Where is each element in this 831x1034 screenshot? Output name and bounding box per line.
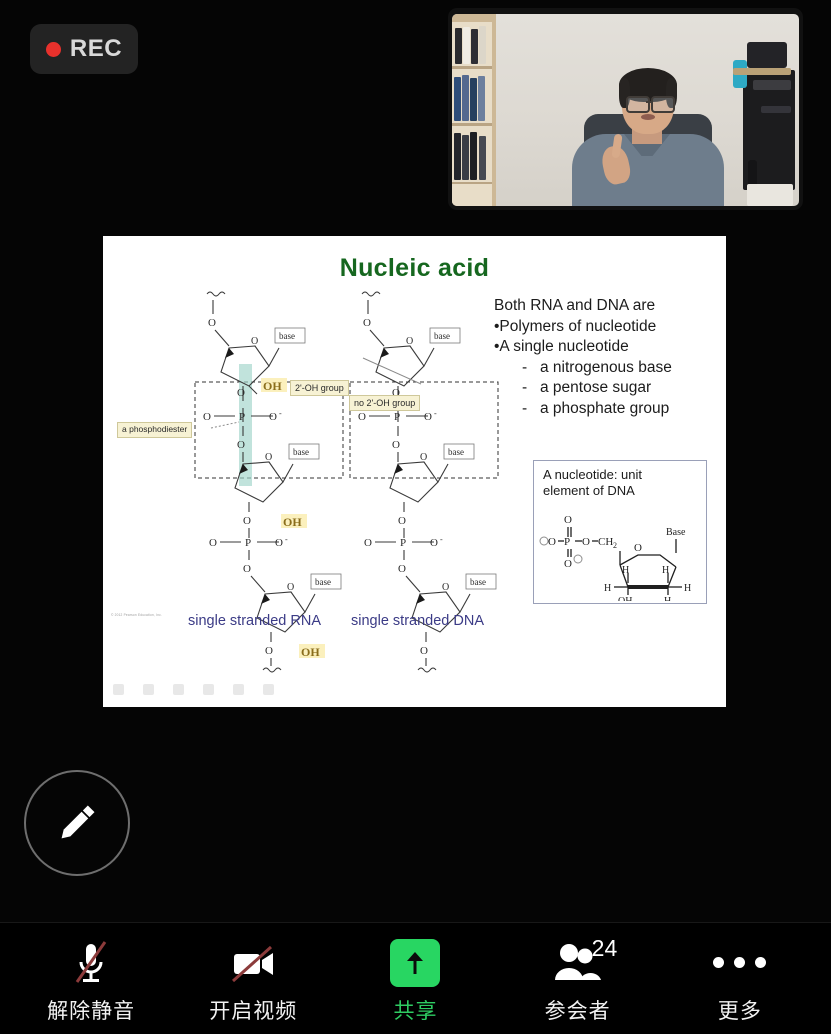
nucleotide-inset-box: A nucleotide: unit element of DNA O O P … [533, 460, 707, 604]
svg-text:O: O [363, 317, 371, 329]
svg-text:O: O [203, 411, 211, 423]
svg-text:O: O [237, 439, 245, 451]
svg-text:O: O [287, 582, 294, 593]
ellipsis-dot [713, 957, 724, 968]
shelf-plank [733, 68, 791, 75]
svg-text:O: O [392, 439, 400, 451]
people-icon: 24 [549, 937, 607, 989]
svg-text:OH: OH [263, 379, 282, 393]
shelf-row [452, 69, 492, 126]
pencil-icon [52, 798, 102, 848]
shared-slide[interactable]: Nucleic acid Both RNA and DNA are •Polym… [103, 236, 726, 707]
inset-caption: A nucleotide: unit element of DNA [543, 467, 693, 498]
svg-text:O: O [548, 536, 556, 548]
svg-text:O: O [237, 387, 245, 399]
nucleotide-structure-figure: O O P O CH 2 O O [534, 505, 706, 601]
shelf-row [452, 22, 492, 69]
meeting-toolbar: 解除静音 开启视频 共享 [0, 922, 831, 1034]
shelf-row [452, 184, 492, 206]
svg-text:O: O [430, 537, 438, 549]
toolbar-item-unmute[interactable]: 解除静音 [21, 933, 161, 1025]
toolbar-label-start-video: 开启视频 [209, 995, 297, 1025]
svg-text:P: P [245, 537, 251, 549]
ghost-icon [113, 684, 124, 695]
svg-text:-: - [285, 535, 288, 544]
equipment-detail [753, 80, 791, 90]
toolbar-label-more: 更多 [718, 995, 762, 1025]
caption-single-stranded-dna: single stranded DNA [351, 613, 484, 629]
recording-indicator: REC [30, 24, 138, 74]
ghost-icon [173, 684, 184, 695]
callout-phosphodiester: a phosphodiester [117, 422, 192, 438]
svg-text:OH: OH [618, 596, 632, 601]
glasses-lens-left [626, 96, 650, 113]
participant-count-badge: 24 [592, 935, 618, 962]
svg-text:O: O [420, 645, 428, 657]
svg-text:H: H [662, 565, 669, 576]
svg-text:-: - [440, 535, 443, 544]
svg-text:O: O [634, 542, 642, 554]
svg-text:P: P [400, 537, 406, 549]
svg-text:O: O [582, 536, 590, 548]
toolbar-item-start-video[interactable]: 开启视频 [183, 933, 323, 1025]
svg-text:O: O [564, 514, 572, 526]
equipment-detail [761, 106, 791, 113]
annotate-button[interactable] [24, 770, 130, 876]
caption-single-stranded-rna: single stranded RNA [188, 613, 321, 629]
ghost-icon [233, 684, 244, 695]
microphone-muted-icon [69, 937, 113, 989]
recording-dot-icon [46, 42, 61, 57]
toolbar-item-share[interactable]: 共享 [345, 933, 485, 1025]
callout-2-prime-oh: 2'-OH group [290, 380, 349, 396]
ellipsis-icon [708, 937, 771, 989]
svg-text:H: H [664, 596, 671, 601]
svg-text:H: H [604, 583, 611, 594]
recording-label: REC [70, 35, 122, 63]
svg-text:O: O [358, 411, 366, 423]
desk-item [747, 184, 793, 206]
inset-caption-line2: element of DNA [543, 483, 693, 499]
inset-caption-line1: A nucleotide: unit [543, 467, 693, 483]
svg-text:base: base [279, 331, 295, 341]
shelf-row [452, 126, 492, 185]
toolbar-label-unmute: 解除静音 [47, 995, 135, 1025]
svg-text:base: base [448, 447, 464, 457]
svg-text:OH: OH [301, 645, 320, 659]
svg-text:-: - [434, 409, 437, 418]
toolbar-item-participants[interactable]: 24 参会者 [508, 933, 648, 1025]
ghost-viewer-toolbar [113, 681, 303, 697]
svg-text:2: 2 [613, 541, 617, 550]
svg-text:O: O [406, 336, 413, 347]
toolbar-label-participants: 参会者 [545, 995, 611, 1025]
svg-text:-: - [279, 409, 282, 418]
svg-text:P: P [394, 411, 400, 423]
presenter-mouth [641, 114, 655, 120]
glasses-bridge [646, 101, 652, 103]
video-camera-muted-icon [227, 937, 279, 989]
svg-text:O: O [275, 537, 283, 549]
svg-text:base: base [434, 331, 450, 341]
toolbar-label-share: 共享 [393, 995, 437, 1025]
svg-text:H: H [684, 583, 691, 594]
svg-text:O: O [424, 411, 432, 423]
svg-text:O: O [269, 411, 277, 423]
ellipsis-dot [734, 957, 745, 968]
presenter-video-tile[interactable] [448, 8, 803, 210]
svg-text:O: O [398, 515, 406, 527]
slide-copyright: © 2012 Pearson Education, Inc. [111, 613, 162, 617]
svg-text:O: O [420, 452, 427, 463]
svg-text:O: O [265, 452, 272, 463]
ellipsis-dot [755, 957, 766, 968]
svg-text:base: base [470, 577, 486, 587]
svg-text:CH: CH [598, 536, 613, 548]
svg-text:H: H [622, 565, 629, 576]
svg-text:O: O [564, 558, 572, 570]
share-icon-wrapper [390, 937, 440, 989]
ghost-icon [263, 684, 274, 695]
ghost-icon [203, 684, 214, 695]
svg-text:O: O [442, 582, 449, 593]
svg-text:O: O [398, 563, 406, 575]
svg-text:O: O [243, 515, 251, 527]
svg-text:P: P [239, 411, 245, 423]
svg-text:O: O [265, 645, 273, 657]
equipment-top [747, 42, 787, 68]
svg-text:O: O [364, 537, 372, 549]
callout-no-2-prime-oh: no 2'-OH group [349, 395, 420, 411]
svg-text:O: O [208, 317, 216, 329]
svg-text:O: O [209, 537, 217, 549]
toolbar-item-more[interactable]: 更多 [670, 933, 810, 1025]
video-frame [452, 14, 799, 206]
svg-text:O: O [243, 563, 251, 575]
svg-text:O: O [251, 336, 258, 347]
svg-text:base: base [293, 447, 309, 457]
svg-text:Base: Base [666, 527, 686, 538]
svg-text:OH: OH [283, 515, 302, 529]
share-up-arrow-icon [390, 939, 440, 987]
svg-text:base: base [315, 577, 331, 587]
svg-text:P: P [564, 536, 570, 548]
ghost-icon [143, 684, 154, 695]
glasses-lens-right [651, 96, 675, 113]
